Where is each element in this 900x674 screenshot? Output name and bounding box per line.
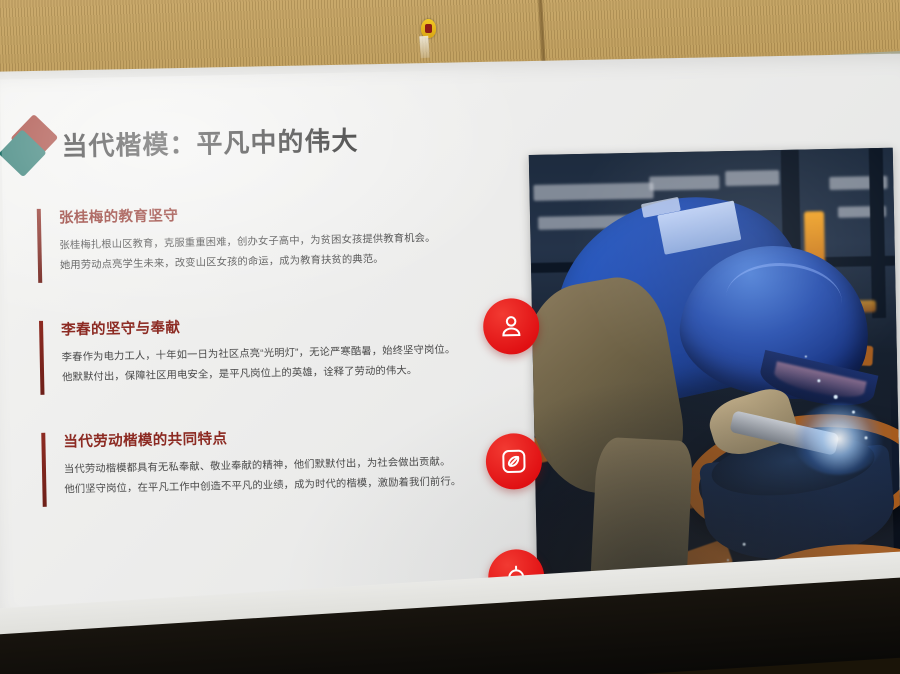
badge-leaf: [485, 433, 542, 490]
block-heading: 张桂梅的教育坚守: [59, 198, 467, 227]
logo-diamonds-icon: [3, 117, 56, 174]
content-block: 张桂梅的教育坚守 张桂梅扎根山区教育，克服重重困难，创办女子高中，为贫困女孩提供…: [37, 198, 468, 277]
page-title: 当代楷模：平凡中的伟大: [61, 120, 359, 163]
block-accent-bar: [39, 321, 44, 395]
welder-photo: [529, 148, 900, 610]
block-accent-bar: [37, 209, 42, 283]
badge-user: [483, 298, 540, 355]
block-heading: 当代劳动楷模的共同特点: [63, 423, 471, 452]
content-block: 当代劳动楷模的共同特点 当代劳动楷模都具有无私奉献、敬业奉献的精神，他们默默付出…: [41, 423, 472, 502]
content-blocks: 张桂梅的教育坚守 张桂梅扎根山区教育，克服重重困难，创办女子高中，为贫困女孩提供…: [37, 198, 474, 543]
block-heading: 李春的坚守与奉献: [61, 310, 469, 339]
sticker-paper-strip: [419, 36, 430, 59]
block-accent-bar: [41, 433, 46, 507]
projection-screen: 当代楷模：平凡中的伟大 张桂梅的教育坚守 张桂梅扎根山区教育，克服重重困难，创办…: [0, 53, 900, 628]
room-photograph: 当代楷模：平凡中的伟大 张桂梅的教育坚守 张桂梅扎根山区教育，克服重重困难，创办…: [0, 0, 900, 674]
leaf-in-square-icon: [499, 446, 530, 477]
user-icon: [496, 311, 527, 342]
slide-header: 当代楷模：平凡中的伟大: [3, 110, 359, 173]
slide-content: 当代楷模：平凡中的伟大 张桂梅的教育坚守 张桂梅扎根山区教育，克服重重困难，创办…: [0, 62, 895, 620]
content-block: 李春的坚守与奉献 李春作为电力工人，十年如一日为社区点亮“光明灯”，无论严寒酷暑…: [39, 310, 470, 389]
